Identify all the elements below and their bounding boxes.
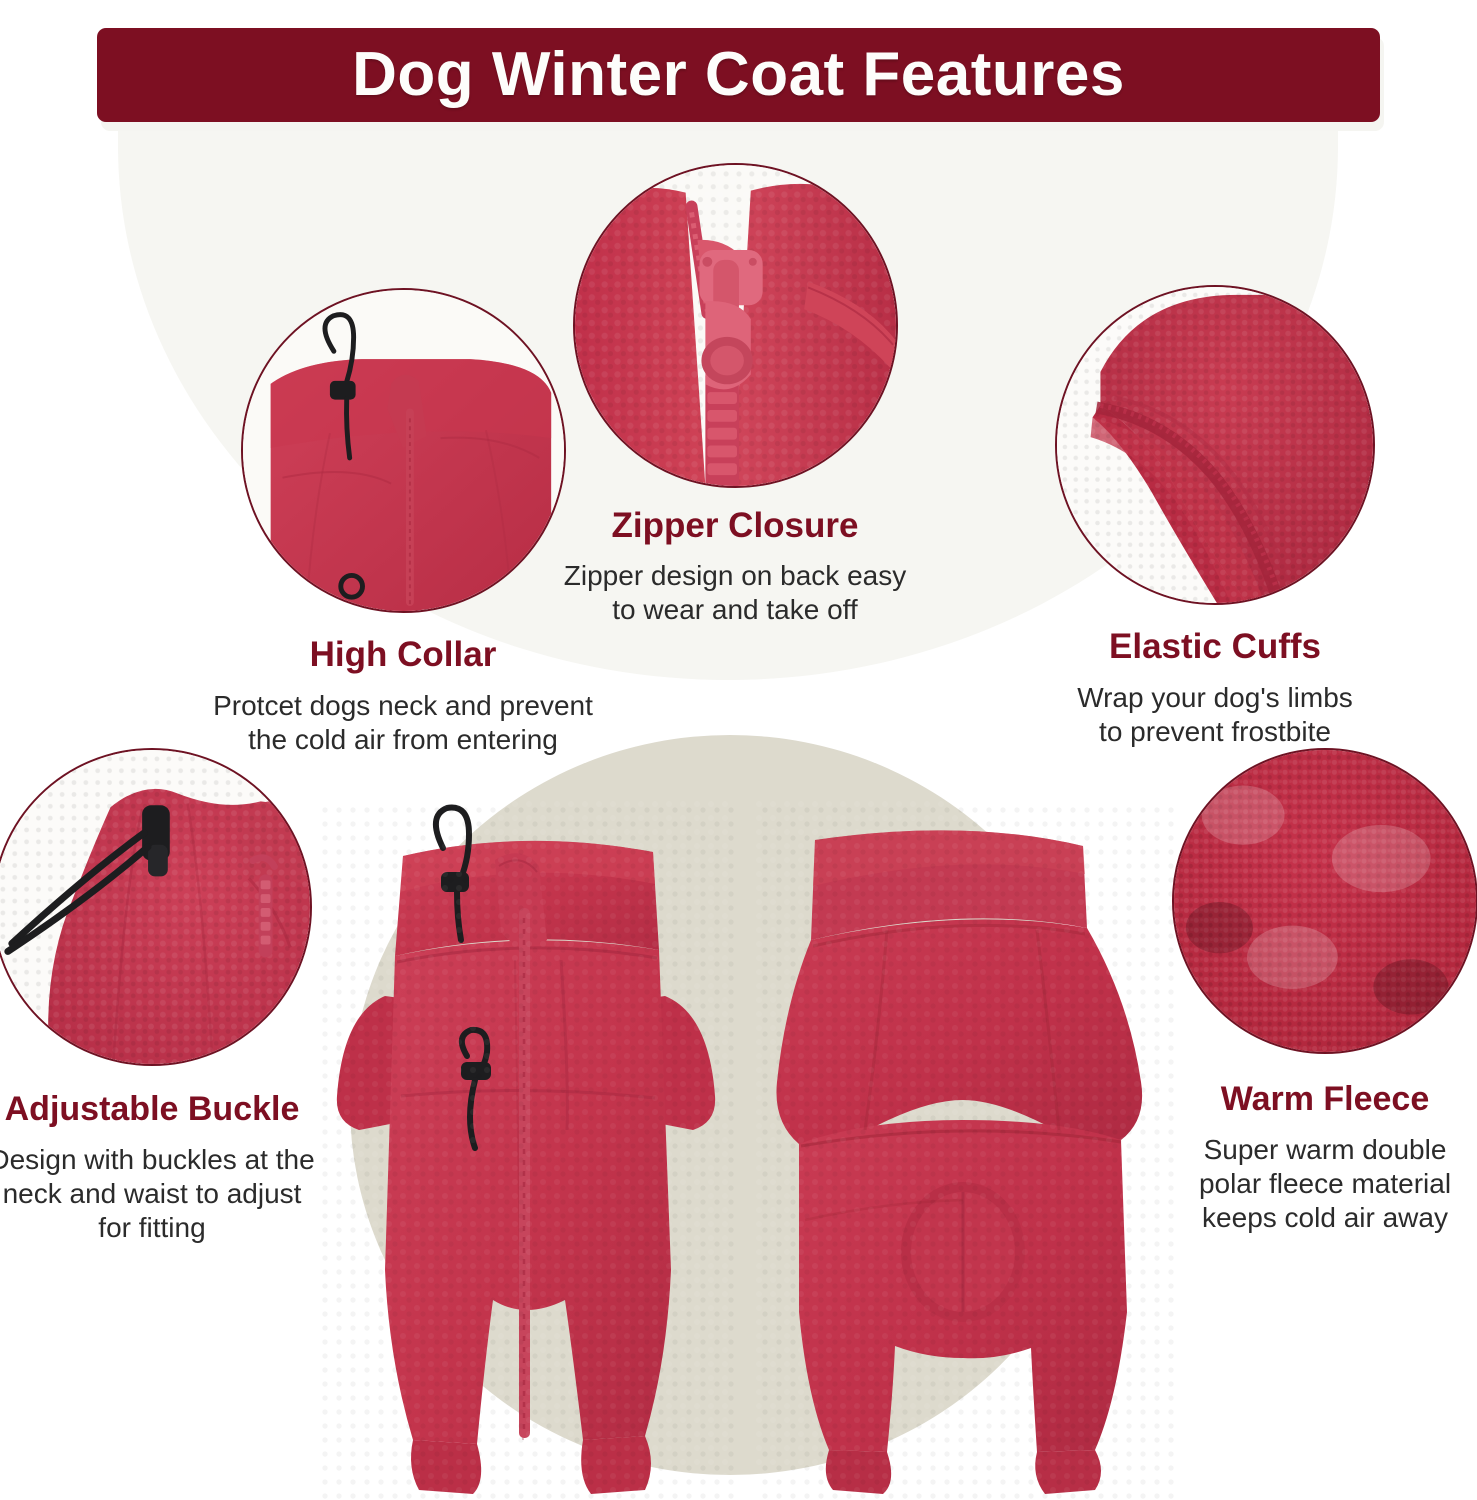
cuff-closeup-photo bbox=[1055, 285, 1375, 605]
high-collar-title: High Collar bbox=[168, 635, 638, 675]
zipper-image-wrap bbox=[505, 163, 965, 488]
dog-coat-front-view-photo bbox=[315, 800, 735, 1500]
desc-line: polar fleece material bbox=[1160, 1167, 1477, 1201]
buckle-image-wrap bbox=[0, 748, 322, 1066]
buckle-closeup-photo bbox=[0, 748, 312, 1066]
desc-line: keeps cold air away bbox=[1160, 1201, 1477, 1235]
feature-elastic-cuffs: Elastic Cuffs Wrap your dog's limbs to p… bbox=[985, 285, 1445, 750]
page-title: Dog Winter Coat Features bbox=[352, 44, 1125, 106]
desc-line: Zipper design on back easy bbox=[505, 559, 965, 593]
elastic-cuffs-title: Elastic Cuffs bbox=[985, 627, 1445, 667]
page-title-banner: Dog Winter Coat Features bbox=[97, 28, 1380, 122]
warm-fleece-description: Super warm double polar fleece material … bbox=[1160, 1133, 1477, 1235]
feature-warm-fleece: Warm Fleece Super warm double polar flee… bbox=[1160, 748, 1477, 1236]
adjustable-buckle-description: Design with buckles at the neck and wais… bbox=[0, 1143, 322, 1245]
desc-line: for fitting bbox=[0, 1211, 322, 1245]
desc-line: neck and waist to adjust bbox=[0, 1177, 322, 1211]
infographic-canvas: Dog Winter Coat Features bbox=[0, 0, 1477, 1500]
desc-line: Super warm double bbox=[1160, 1133, 1477, 1167]
zipper-closeup-photo bbox=[573, 163, 898, 488]
feature-adjustable-buckle: Adjustable Buckle Design with buckles at… bbox=[0, 748, 322, 1246]
adjustable-buckle-title: Adjustable Buckle bbox=[0, 1090, 322, 1129]
cuffs-image-wrap bbox=[985, 285, 1445, 605]
zipper-closure-title: Zipper Closure bbox=[505, 506, 965, 546]
desc-line: Wrap your dog's limbs bbox=[985, 681, 1445, 715]
desc-line: to wear and take off bbox=[505, 593, 965, 627]
fleece-texture-photo bbox=[1172, 748, 1477, 1054]
fleece-image-wrap bbox=[1160, 748, 1477, 1054]
elastic-cuffs-description: Wrap your dog's limbs to prevent frostbi… bbox=[985, 681, 1445, 749]
dog-coat-back-view-photo bbox=[755, 800, 1175, 1500]
warm-fleece-title: Warm Fleece bbox=[1160, 1080, 1477, 1119]
desc-line: Protcet dogs neck and prevent bbox=[168, 689, 638, 723]
zipper-closure-description: Zipper design on back easy to wear and t… bbox=[505, 559, 965, 627]
feature-zipper-closure: Zipper Closure Zipper design on back eas… bbox=[505, 163, 965, 628]
desc-line: Design with buckles at the bbox=[0, 1143, 322, 1177]
desc-line: to prevent frostbite bbox=[985, 715, 1445, 749]
